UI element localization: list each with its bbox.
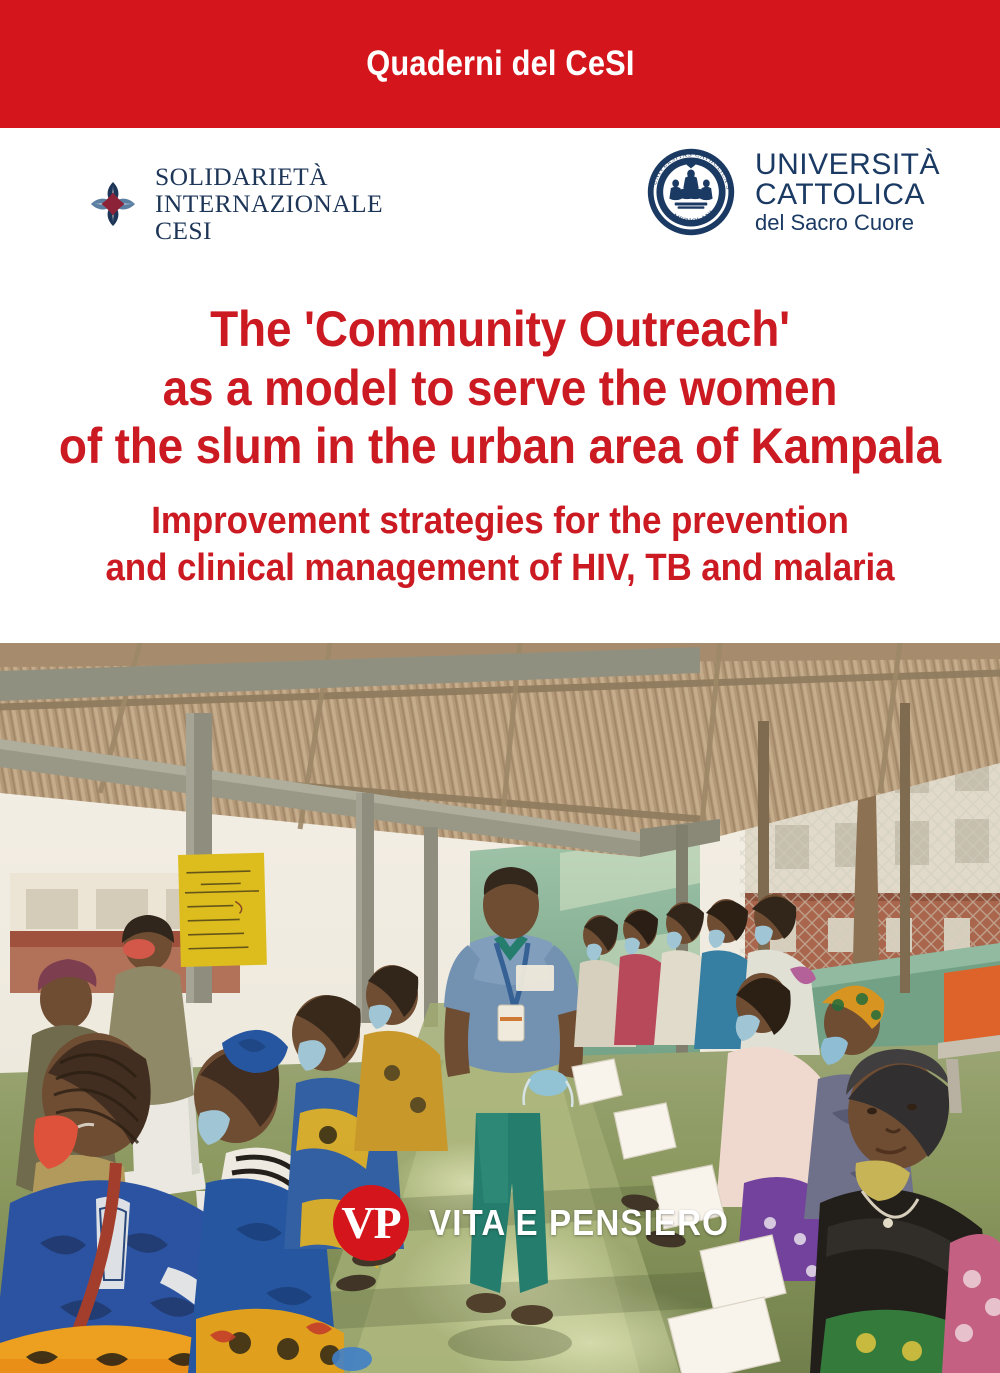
ucsc-line-3: del Sacro Cuore: [755, 212, 940, 234]
ucsc-seal-icon: UNIVERSITAS CATHOLICA SACRI CORDIS IESU …: [643, 144, 739, 240]
vp-monogram: VP: [341, 1200, 400, 1246]
book-title-line-2: as a model to serve the women: [40, 359, 960, 418]
book-subtitle: Improvement strategies for the preventio…: [40, 498, 960, 593]
vp-circle-icon: VP: [333, 1185, 409, 1261]
cesi-line-3: CESI: [155, 217, 383, 244]
cesi-wordmark: SOLIDARIETÀ INTERNAZIONALE CESI: [155, 163, 383, 244]
cover-photograph: [0, 643, 1000, 1373]
logo-row: SOLIDARIETÀ INTERNAZIONALE CESI UNIVERSI…: [0, 128, 1000, 303]
book-subtitle-line-1: Improvement strategies for the preventio…: [40, 498, 960, 546]
book-title-line-3: of the slum in the urban area of Kampala: [40, 417, 960, 476]
cover-title-block: The 'Community Outreach' as a model to s…: [0, 300, 1000, 593]
cesi-flower-icon: [84, 175, 142, 233]
publisher-logo: VP VITA E PENSIERO: [333, 1185, 755, 1261]
series-title: Quaderni del CeSI: [366, 44, 634, 84]
book-title-line-1: The 'Community Outreach': [40, 300, 960, 359]
logo-universita-cattolica: UNIVERSITAS CATHOLICA SACRI CORDIS IESU …: [643, 144, 940, 240]
publisher-name: VITA E PENSIERO: [429, 1202, 729, 1244]
ucsc-line-2: CATTOLICA: [755, 180, 940, 210]
cesi-line-1: SOLIDARIETÀ: [155, 163, 383, 190]
logo-solidarieta-internazionale-cesi: SOLIDARIETÀ INTERNAZIONALE CESI: [84, 163, 383, 244]
book-title: The 'Community Outreach' as a model to s…: [40, 300, 960, 476]
ucsc-wordmark: UNIVERSITÀ CATTOLICA del Sacro Cuore: [755, 150, 940, 234]
ucsc-line-1: UNIVERSITÀ: [755, 150, 940, 180]
cesi-line-2: INTERNAZIONALE: [155, 190, 383, 217]
series-header-band: Quaderni del CeSI: [0, 0, 1000, 128]
book-subtitle-line-2: and clinical management of HIV, TB and m…: [40, 545, 960, 593]
